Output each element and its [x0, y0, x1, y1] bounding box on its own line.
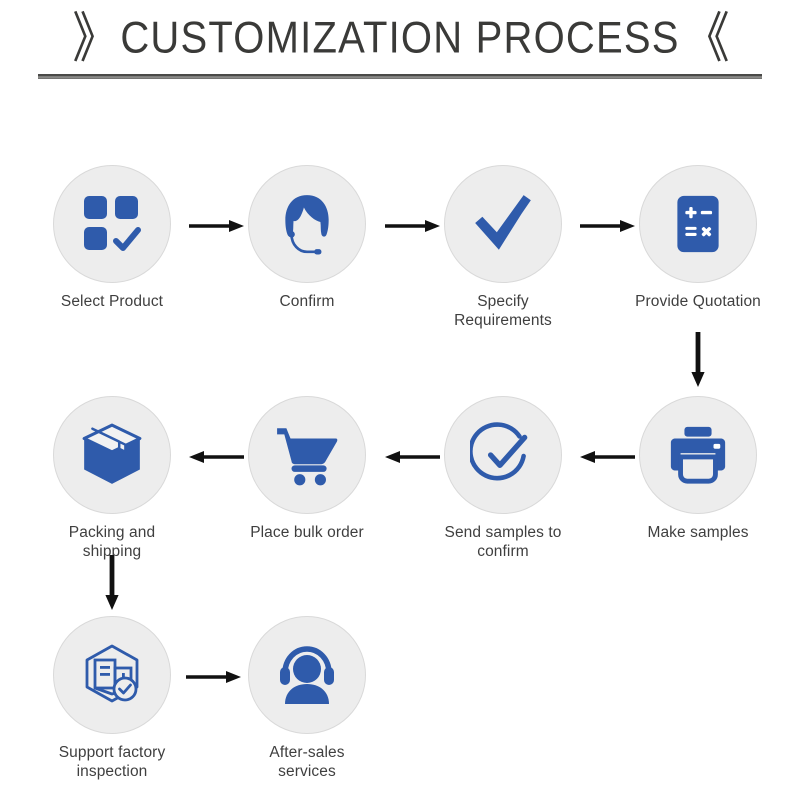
connector-arrow-left [580, 447, 636, 467]
connector-arrow-right [189, 216, 245, 236]
checkmark-icon [470, 191, 536, 257]
flow-step-select-product[interactable]: Select Product [46, 165, 178, 311]
step-icon-bubble [53, 165, 171, 283]
process-flow-diagram: Select Product Confirm Specify Requireme… [0, 0, 800, 800]
flow-step-place-bulk-order[interactable]: Place bulk order [241, 396, 373, 542]
flow-step-label: After-sales services [241, 743, 373, 781]
flow-step-send-samples-to-confirm[interactable]: Send samples to confirm [437, 396, 569, 561]
circle-check-icon [470, 422, 536, 488]
connector-arrow-down [688, 332, 708, 388]
flow-step-support-factory-inspection[interactable]: Support factory inspection [46, 616, 178, 781]
step-icon-bubble [248, 165, 366, 283]
flow-step-label: Provide Quotation [635, 292, 761, 311]
step-icon-bubble [53, 616, 171, 734]
support-person-icon [275, 643, 339, 707]
step-icon-bubble [248, 616, 366, 734]
step-icon-bubble [53, 396, 171, 514]
flow-step-label: Send samples to confirm [437, 523, 569, 561]
flow-step-specify-requirements[interactable]: Specify Requirements [437, 165, 569, 330]
connector-arrow-left [189, 447, 245, 467]
package-box-icon [79, 422, 145, 488]
headset-agent-icon [274, 191, 340, 257]
connector-arrow-right [385, 216, 441, 236]
step-icon-bubble [639, 165, 757, 283]
flow-step-label: Select Product [61, 292, 163, 311]
connector-arrow-right [186, 667, 242, 687]
connector-arrow-right [580, 216, 636, 236]
flow-step-packing-and-shipping[interactable]: Packing and shipping [46, 396, 178, 561]
flow-step-confirm[interactable]: Confirm [241, 165, 373, 311]
shopping-cart-icon [274, 422, 340, 488]
factory-inspection-shield-icon [80, 643, 144, 707]
flow-step-label: Support factory inspection [59, 743, 166, 781]
flow-step-label: Make samples [647, 523, 748, 542]
connector-arrow-down [102, 555, 122, 611]
flow-step-provide-quotation[interactable]: Provide Quotation [632, 165, 764, 311]
step-icon-bubble [444, 396, 562, 514]
step-icon-bubble [444, 165, 562, 283]
connector-arrow-left [385, 447, 441, 467]
flow-step-label: Specify Requirements [437, 292, 569, 330]
calculator-icon [668, 194, 728, 254]
grid-check-icon [80, 192, 144, 256]
step-icon-bubble [248, 396, 366, 514]
flow-step-make-samples[interactable]: Make samples [632, 396, 764, 542]
printer-icon [667, 424, 729, 486]
flow-step-label: Place bulk order [250, 523, 364, 542]
flow-step-label: Confirm [280, 292, 335, 311]
flow-step-after-sales-services[interactable]: After-sales services [241, 616, 373, 781]
step-icon-bubble [639, 396, 757, 514]
